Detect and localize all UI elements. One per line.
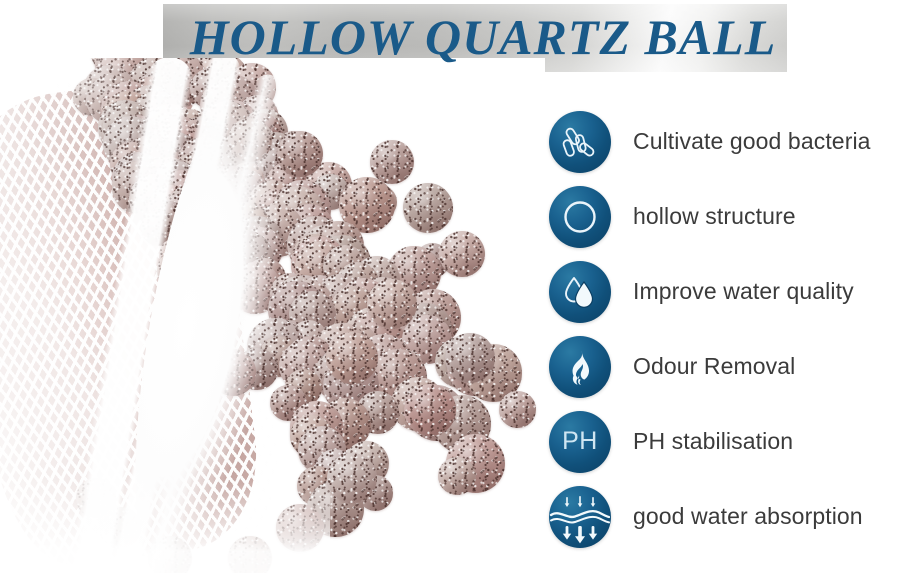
hollow-ring-icon [549,186,611,248]
quartz-ball [326,332,378,384]
feature-label: Cultivate good bacteria [633,128,871,155]
quartz-ball [327,453,377,503]
feature-label: good water absorption [633,503,863,530]
product-photo [0,58,545,573]
feature-row-hollow-structure: hollow structure [549,179,922,254]
quartz-ball [438,457,476,495]
quartz-ball [403,183,453,233]
feature-label: hollow structure [633,203,796,230]
feature-row-cultivate-good-bacteria: Cultivate good bacteria [549,104,922,179]
quartz-ball [499,391,535,427]
flame-icon [549,336,611,398]
feature-label: Improve water quality [633,278,854,305]
page-title: HOLLOW QUARTZ BALL [163,8,803,66]
feature-row-good-water-absorption: good water absorption [549,479,922,554]
water-drops-icon [549,261,611,323]
quartz-ball [404,384,456,436]
feature-row-ph-stabilisation: PH PH stabilisation [549,404,922,479]
bacteria-icon [549,111,611,173]
ph-icon: PH [549,411,611,473]
quartz-ball [445,333,495,383]
feature-row-improve-water-quality: Improve water quality [549,254,922,329]
feature-list: Cultivate good bacteria hollow structure… [549,104,922,566]
feature-label: Odour Removal [633,353,795,380]
quartz-ball [439,231,485,277]
quartz-ball [370,140,414,184]
product-feature-infographic: HOLLOW QUARTZ BALL [0,0,922,573]
quartz-ball [367,279,417,329]
water-absorption-icon [549,486,611,548]
feature-row-odour-removal: Odour Removal [549,329,922,404]
feature-label: PH stabilisation [633,428,793,455]
photo-bottom-fade [0,478,330,573]
ph-icon-text: PH [562,427,598,456]
